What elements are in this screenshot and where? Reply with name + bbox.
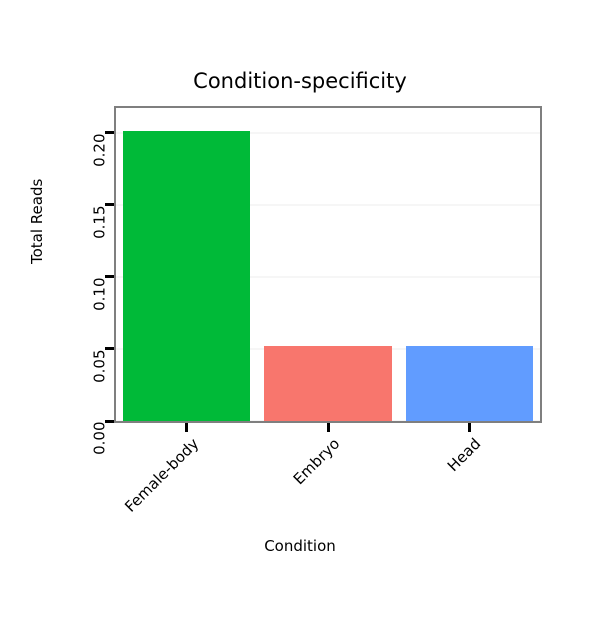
x-tick-label-1: Embryo bbox=[191, 436, 343, 588]
y-axis-title: Total Reads bbox=[30, 179, 45, 264]
plot-panel bbox=[114, 106, 542, 423]
y-tick-label-4: 0.20 bbox=[93, 133, 108, 333]
x-tick-mark-1 bbox=[327, 423, 330, 432]
bar-female-body bbox=[123, 131, 250, 421]
plot-area bbox=[116, 108, 540, 421]
x-tick-label-2: Head bbox=[332, 436, 484, 588]
bar-embryo bbox=[264, 346, 391, 421]
chart-canvas: Condition-specificity 0.000.050.100.150.… bbox=[0, 0, 600, 600]
x-tick-mark-2 bbox=[468, 423, 471, 432]
x-axis-title: Condition bbox=[0, 537, 600, 555]
bar-head bbox=[406, 346, 533, 421]
x-tick-label-0: Female-body bbox=[49, 436, 201, 588]
chart-title: Condition-specificity bbox=[0, 68, 600, 94]
x-tick-mark-0 bbox=[185, 423, 188, 432]
